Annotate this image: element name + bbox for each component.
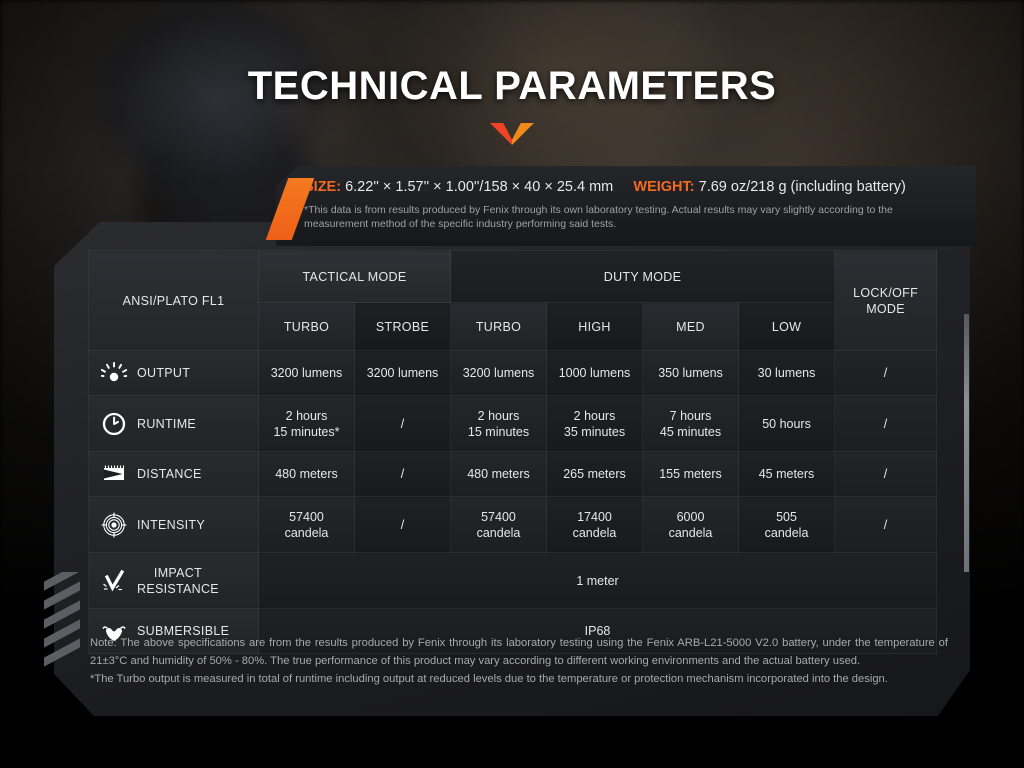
panel-right-accent-edge <box>964 314 969 572</box>
table-row: OUTPUT 3200 lumens 3200 lumens 3200 lume… <box>89 351 937 396</box>
column-header-duty-turbo: TURBO <box>451 303 547 351</box>
cell-runtime-duty-high: 2 hours 35 minutes <box>547 396 643 452</box>
header-duty-mode: DUTY MODE <box>451 251 835 303</box>
row-label-text: DISTANCE <box>137 466 202 482</box>
cell-output-duty-high: 1000 lumens <box>547 351 643 396</box>
cell-runtime-duty-low: 50 hours <box>739 396 835 452</box>
column-header-duty-med: MED <box>643 303 739 351</box>
cell-distance-tactical-strobe: / <box>355 452 451 497</box>
target-icon <box>101 512 127 538</box>
cell-intensity-duty-low: 505 candela <box>739 497 835 553</box>
cell-runtime-duty-med: 7 hours 45 minutes <box>643 396 739 452</box>
row-label-text: OUTPUT <box>137 365 190 381</box>
cell-intensity-duty-turbo: 57400 candela <box>451 497 547 553</box>
sunburst-icon <box>101 360 127 386</box>
page-title: TECHNICAL PARAMETERS <box>0 64 1024 109</box>
header-lock-off-mode: LOCK/OFF MODE <box>835 251 937 351</box>
cell-intensity-duty-high: 17400 candela <box>547 497 643 553</box>
column-header-duty-high: HIGH <box>547 303 643 351</box>
table-row: RUNTIME 2 hours 15 minutes* / 2 hours 15… <box>89 396 937 452</box>
specifications-table: ANSI/PLATO FL1 TACTICAL MODE DUTY MODE L… <box>88 250 937 654</box>
clock-icon <box>101 411 127 437</box>
cell-impact-resistance-value: 1 meter <box>259 553 937 609</box>
row-label-output: OUTPUT <box>89 351 259 396</box>
header-tactical-mode: TACTICAL MODE <box>259 251 451 303</box>
row-label-intensity: INTENSITY <box>89 497 259 553</box>
weight-value: 7.69 oz/218 g (including battery) <box>699 179 906 195</box>
cell-intensity-duty-med: 6000 candela <box>643 497 739 553</box>
cell-output-duty-turbo: 3200 lumens <box>451 351 547 396</box>
cell-intensity-tactical-turbo: 57400 candela <box>259 497 355 553</box>
header-ansi-plato: ANSI/PLATO FL1 <box>89 251 259 351</box>
beam-icon <box>101 461 127 487</box>
row-label-text: INTENSITY <box>137 517 205 533</box>
impact-icon <box>101 568 127 594</box>
column-header-tactical-turbo: TURBO <box>259 303 355 351</box>
cell-distance-duty-low: 45 meters <box>739 452 835 497</box>
chevron-down-icon <box>490 123 534 145</box>
cell-output-lock-off: / <box>835 351 937 396</box>
table-header-group-row: ANSI/PLATO FL1 TACTICAL MODE DUTY MODE L… <box>89 251 937 303</box>
weight-label: WEIGHT: <box>633 179 694 195</box>
cell-distance-duty-turbo: 480 meters <box>451 452 547 497</box>
row-label-text: RUNTIME <box>137 416 196 432</box>
cell-intensity-tactical-strobe: / <box>355 497 451 553</box>
footnote-line-2: *The Turbo output is measured in total o… <box>90 670 948 688</box>
column-header-tactical-strobe: STROBE <box>355 303 451 351</box>
table-row: DISTANCE 480 meters / 480 meters 265 met… <box>89 452 937 497</box>
cell-output-duty-med: 350 lumens <box>643 351 739 396</box>
size-value: 6.22'' × 1.57'' × 1.00''/158 × 40 × 25.4… <box>345 179 613 195</box>
row-label-text: IMPACT RESISTANCE <box>137 565 219 597</box>
cell-runtime-tactical-strobe: / <box>355 396 451 452</box>
cell-distance-tactical-turbo: 480 meters <box>259 452 355 497</box>
cell-distance-duty-med: 155 meters <box>643 452 739 497</box>
banner-disclaimer: *This data is from results produced by F… <box>304 204 944 232</box>
footnote-line-1: Note: The above specifications are from … <box>90 634 948 670</box>
row-label-impact-resistance: IMPACT RESISTANCE <box>89 553 259 609</box>
size-weight-banner: SIZE: 6.22'' × 1.57'' × 1.00''/158 × 40 … <box>276 166 976 246</box>
table-row: INTENSITY 57400 candela / 57400 candela … <box>89 497 937 553</box>
cell-output-duty-low: 30 lumens <box>739 351 835 396</box>
cell-runtime-lock-off: / <box>835 396 937 452</box>
table-row: IMPACT RESISTANCE 1 meter <box>89 553 937 609</box>
table-body: OUTPUT 3200 lumens 3200 lumens 3200 lume… <box>89 351 937 654</box>
header-lock-off-line2: MODE <box>835 301 936 317</box>
table-head: ANSI/PLATO FL1 TACTICAL MODE DUTY MODE L… <box>89 251 937 351</box>
title-block: TECHNICAL PARAMETERS <box>0 64 1024 145</box>
cell-intensity-lock-off: / <box>835 497 937 553</box>
cell-runtime-tactical-turbo: 2 hours 15 minutes* <box>259 396 355 452</box>
cell-output-tactical-turbo: 3200 lumens <box>259 351 355 396</box>
cell-runtime-duty-turbo: 2 hours 15 minutes <box>451 396 547 452</box>
cell-distance-lock-off: / <box>835 452 937 497</box>
size-weight-line: SIZE: 6.22'' × 1.57'' × 1.00''/158 × 40 … <box>304 179 954 195</box>
row-label-runtime: RUNTIME <box>89 396 259 452</box>
cell-distance-duty-high: 265 meters <box>547 452 643 497</box>
column-header-duty-low: LOW <box>739 303 835 351</box>
cell-output-tactical-strobe: 3200 lumens <box>355 351 451 396</box>
row-label-distance: DISTANCE <box>89 452 259 497</box>
table-footnote: Note: The above specifications are from … <box>90 634 948 688</box>
panel-left-stripe-decoration <box>44 572 80 700</box>
header-lock-off-line1: LOCK/OFF <box>835 285 936 301</box>
